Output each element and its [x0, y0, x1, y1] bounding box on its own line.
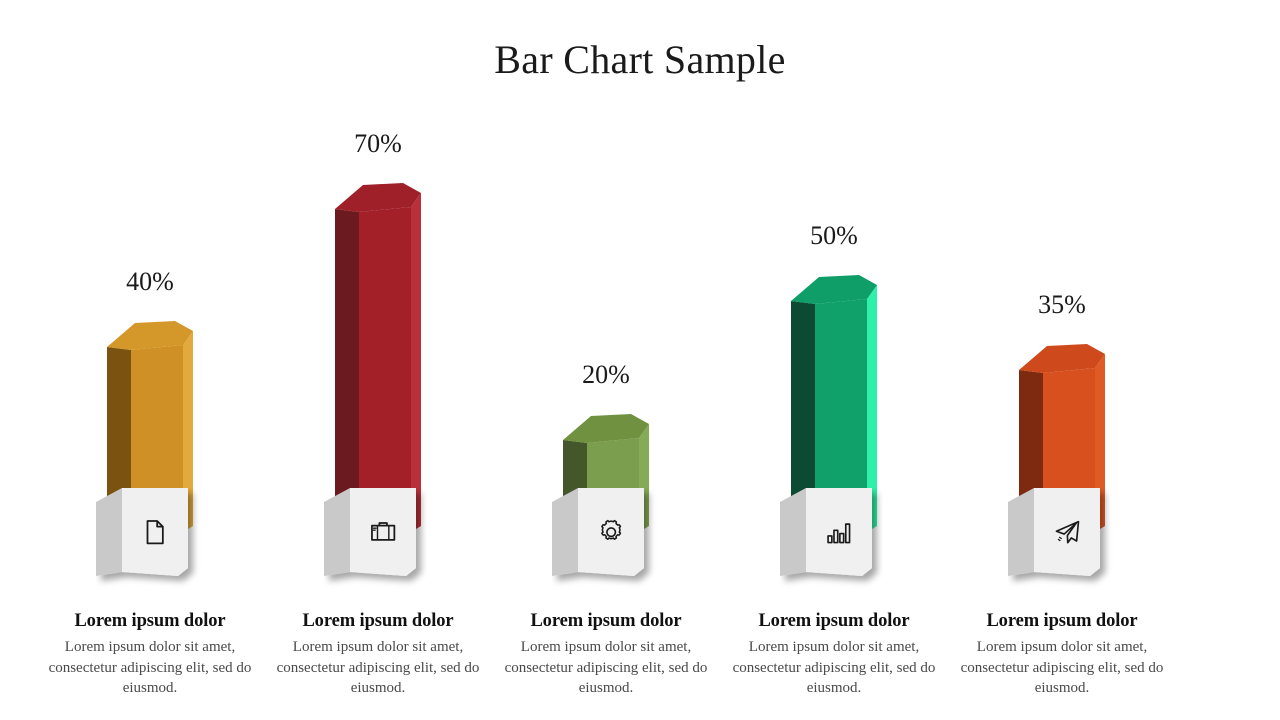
bar-column-2[interactable]: 70%Lorem ipsum dolorLorem ipsum dolor si… — [264, 0, 492, 720]
bar-pedestal[interactable] — [492, 488, 720, 590]
pedestal-cube — [552, 488, 660, 590]
caption-body: Lorem ipsum dolor sit amet, consectetur … — [264, 637, 492, 698]
bar-value-label: 70% — [264, 131, 492, 157]
bar-value-label: 40% — [36, 269, 264, 295]
bar-value-label: 50% — [720, 223, 948, 249]
chart-canvas: Bar Chart Sample 40%Lorem ipsum dolorLor… — [0, 0, 1280, 720]
bar-caption: Lorem ipsum dolorLorem ipsum dolor sit a… — [948, 611, 1176, 698]
bar-pedestal[interactable] — [720, 488, 948, 590]
bar-pedestal[interactable] — [948, 488, 1176, 590]
bar-column-5[interactable]: 35%Lorem ipsum dolorLorem ipsum dolor si… — [948, 0, 1176, 720]
caption-title: Lorem ipsum dolor — [264, 611, 492, 632]
pedestal-cube — [1008, 488, 1116, 590]
bar-column-4[interactable]: 50%Lorem ipsum dolorLorem ipsum dolor si… — [720, 0, 948, 720]
bar-pedestal[interactable] — [36, 488, 264, 590]
bar-column-1[interactable]: 40%Lorem ipsum dolorLorem ipsum dolor si… — [36, 0, 264, 720]
caption-title: Lorem ipsum dolor — [492, 611, 720, 632]
caption-title: Lorem ipsum dolor — [948, 611, 1176, 632]
bar-caption: Lorem ipsum dolorLorem ipsum dolor sit a… — [720, 611, 948, 698]
bar-value-label: 35% — [948, 292, 1176, 318]
caption-title: Lorem ipsum dolor — [36, 611, 264, 632]
bar-pedestal[interactable] — [264, 488, 492, 590]
bar-caption: Lorem ipsum dolorLorem ipsum dolor sit a… — [492, 611, 720, 698]
bar-column-3[interactable]: 20%Lorem ipsum dolorLorem ipsum dolor si… — [492, 0, 720, 720]
caption-body: Lorem ipsum dolor sit amet, consectetur … — [492, 637, 720, 698]
caption-body: Lorem ipsum dolor sit amet, consectetur … — [720, 637, 948, 698]
pedestal-cube — [96, 488, 204, 590]
bar-caption: Lorem ipsum dolorLorem ipsum dolor sit a… — [264, 611, 492, 698]
bar-group: 40%Lorem ipsum dolorLorem ipsum dolor si… — [0, 0, 1280, 720]
bar-caption: Lorem ipsum dolorLorem ipsum dolor sit a… — [36, 611, 264, 698]
pedestal-cube — [324, 488, 432, 590]
caption-title: Lorem ipsum dolor — [720, 611, 948, 632]
pedestal-cube — [780, 488, 888, 590]
caption-body: Lorem ipsum dolor sit amet, consectetur … — [36, 637, 264, 698]
caption-body: Lorem ipsum dolor sit amet, consectetur … — [948, 637, 1176, 698]
bar-prism — [335, 183, 421, 532]
bar-value-label: 20% — [492, 362, 720, 388]
bar-3d[interactable] — [264, 183, 492, 532]
